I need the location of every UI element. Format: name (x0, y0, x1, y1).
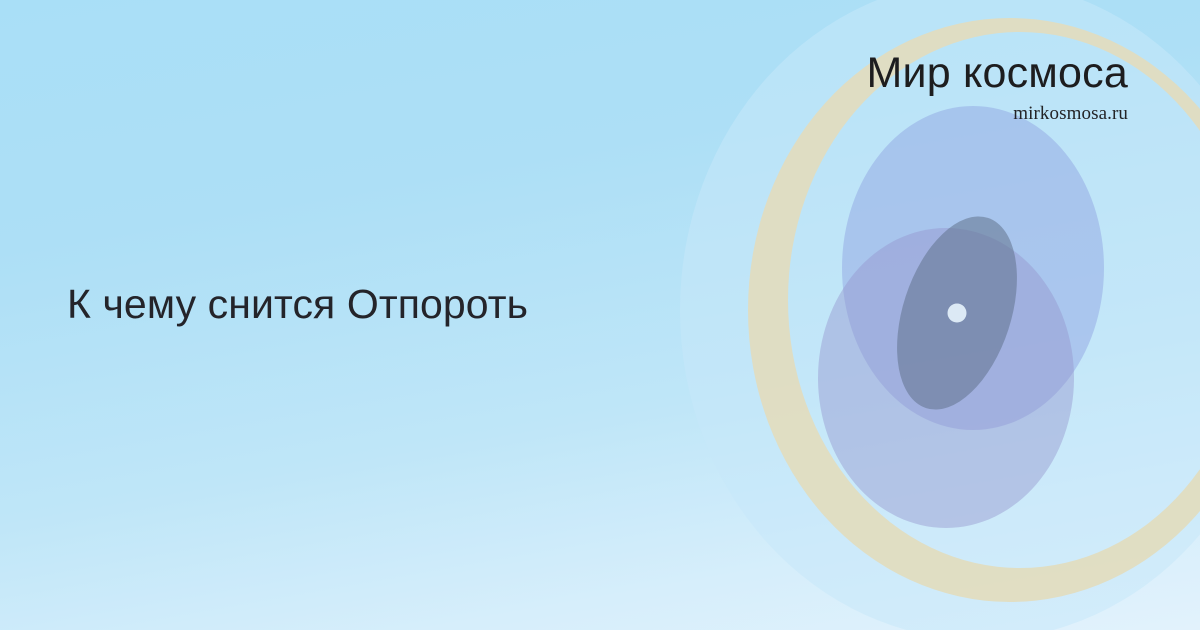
lower-disc (818, 228, 1074, 528)
center-dot (948, 304, 967, 323)
site-logo[interactable]: Мир космоса mirkosmosa.ru (866, 52, 1128, 123)
upper-disc (842, 106, 1104, 430)
core-ellipse (875, 201, 1040, 425)
social-preview-card: Мир космоса mirkosmosa.ru К чему снится … (0, 0, 1200, 630)
page-title: К чему снится Отпороть (67, 280, 528, 328)
site-logo-title: Мир космоса (866, 52, 1128, 95)
site-logo-domain: mirkosmosa.ru (866, 104, 1128, 123)
